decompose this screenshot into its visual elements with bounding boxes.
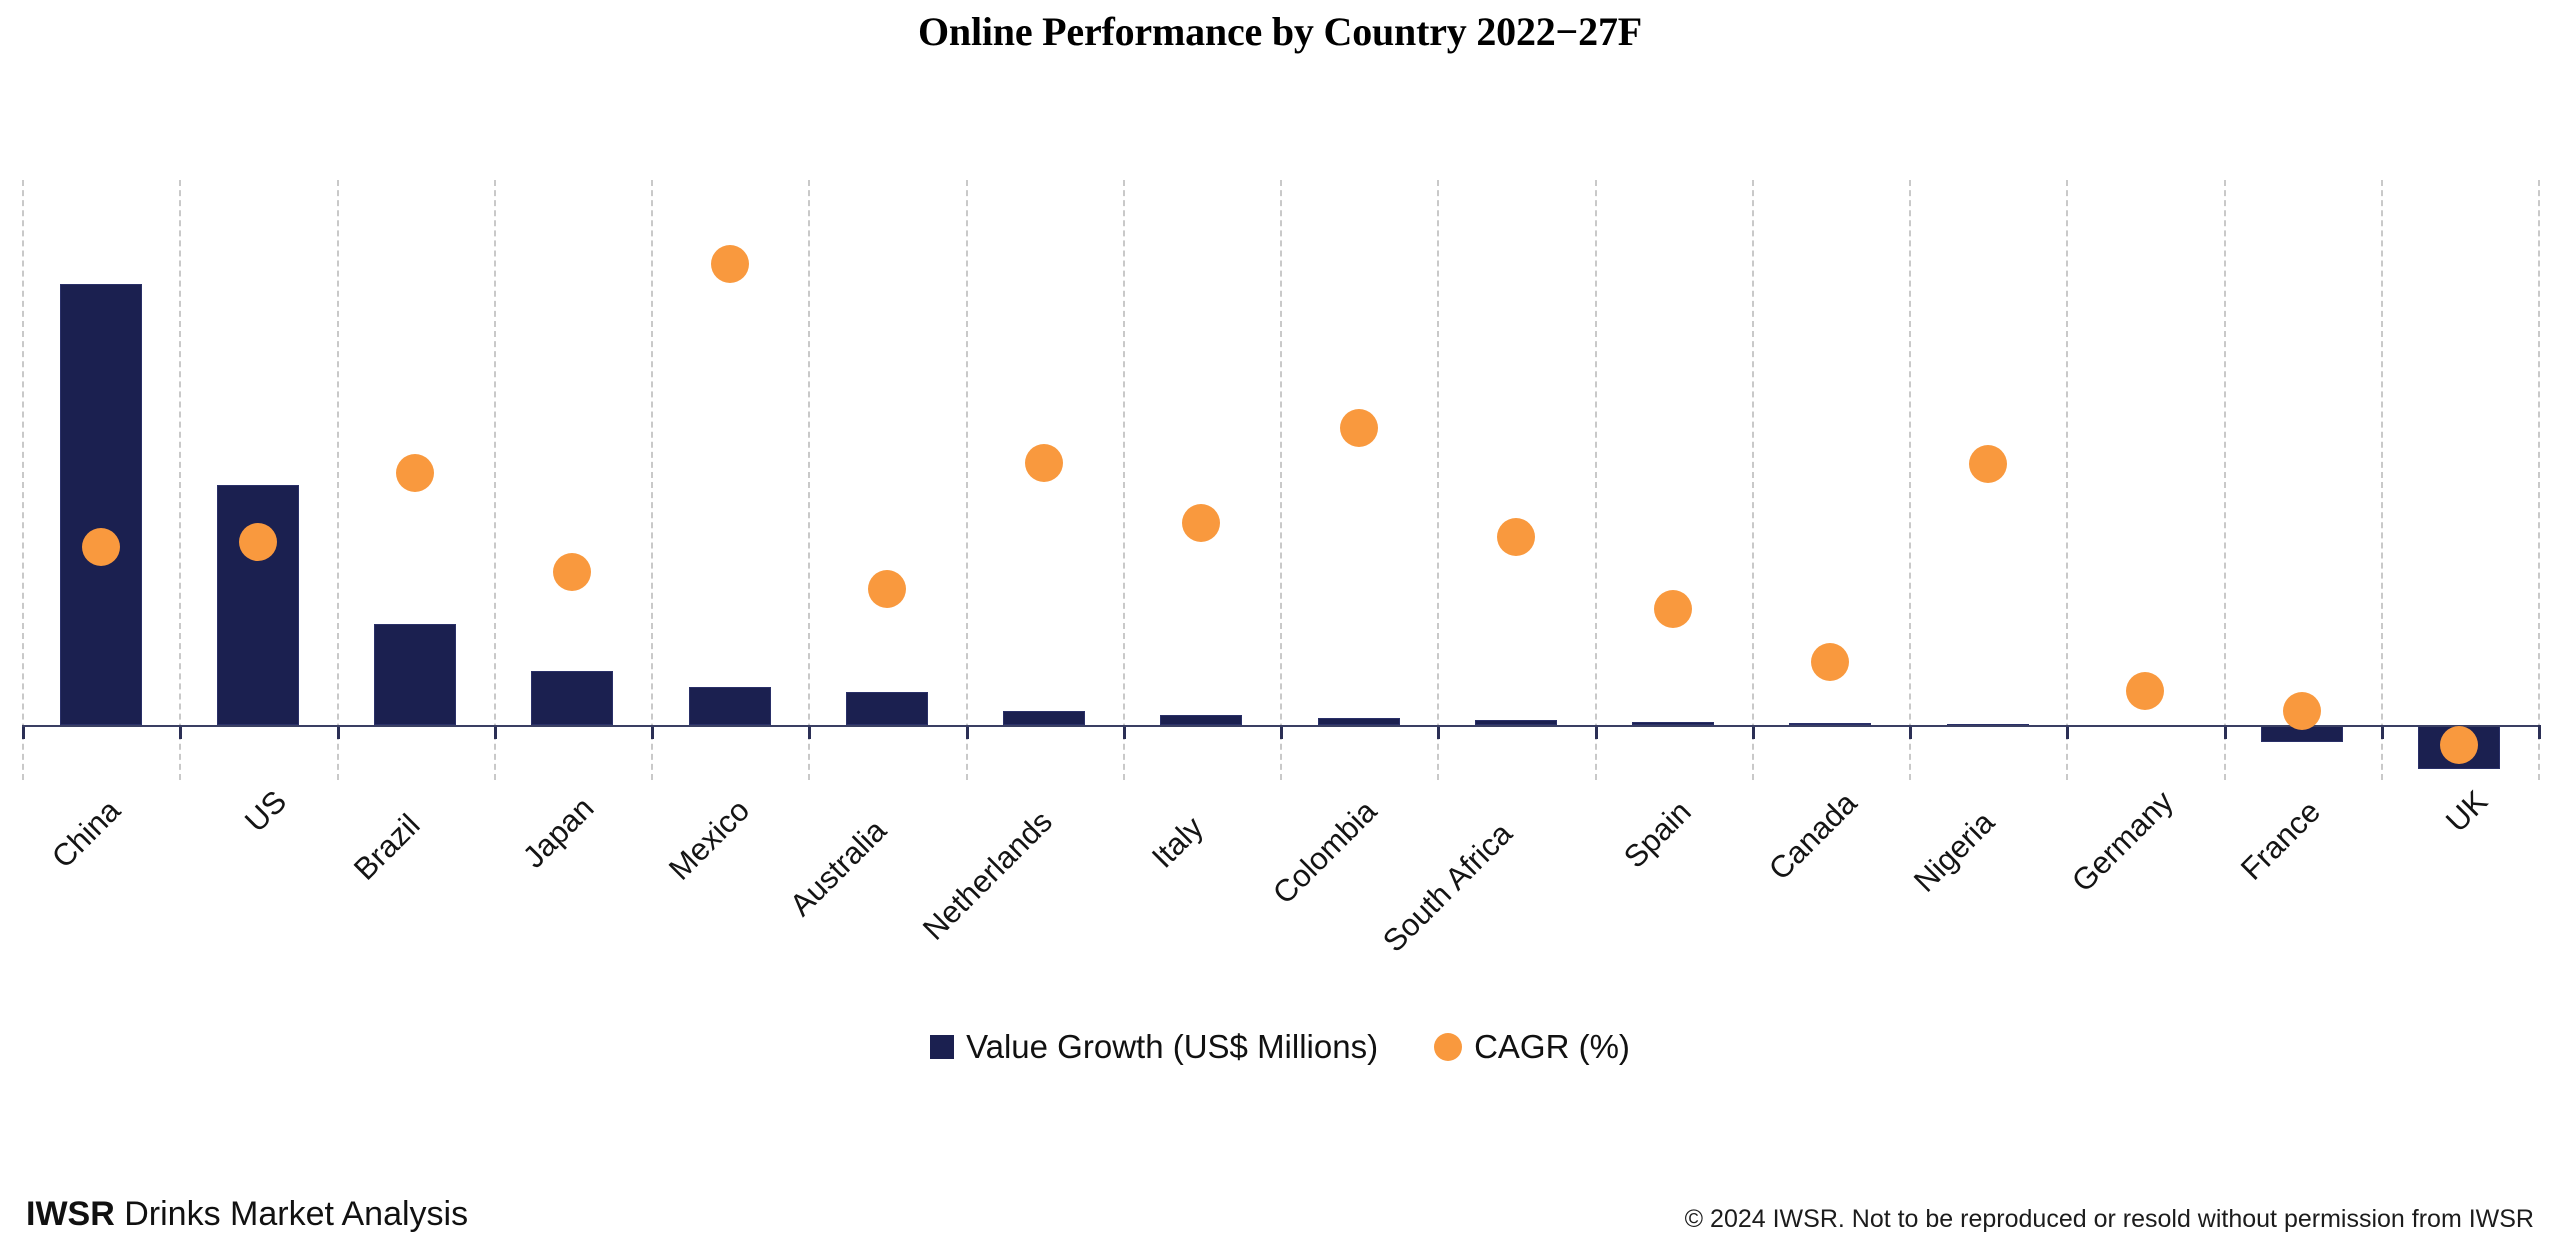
legend-item-cagr[interactable]: CAGR (%) [1434, 1028, 1630, 1066]
x-axis-label-mexico: Mexico [662, 793, 757, 888]
legend-circle-icon [1434, 1033, 1462, 1061]
cagr-marker-uk [2440, 726, 2478, 764]
legend-label: CAGR (%) [1474, 1028, 1630, 1066]
legend-square-icon [930, 1035, 954, 1059]
x-axis-label-uk: UK [2439, 784, 2495, 840]
page-footer: IWSR Drinks Market Analysis © 2024 IWSR.… [0, 1195, 2560, 1234]
footer-brand: IWSR Drinks Market Analysis [26, 1195, 468, 1234]
x-axis-label-us: US [238, 784, 294, 840]
x-axis-label-germany: Germany [2065, 784, 2181, 900]
x-axis-label-china: China [45, 793, 128, 876]
x-axis-label-south-africa: South Africa [1376, 816, 1520, 960]
scatter-series-layer [22, 180, 2538, 780]
cagr-marker-china [82, 528, 120, 566]
x-axis-label-canada: Canada [1762, 785, 1864, 887]
x-axis-labels: ChinaUSBrazilJapanMexicoAustraliaNetherl… [22, 790, 2538, 990]
page-title: Online Performance by Country 2022−27F [0, 8, 2560, 55]
x-axis-label-australia: Australia [783, 813, 894, 924]
cagr-marker-australia [868, 570, 906, 608]
cagr-marker-canada [1811, 643, 1849, 681]
axis-tick [2538, 725, 2541, 739]
cagr-marker-south-africa [1497, 518, 1535, 556]
chart-legend: Value Growth (US$ Millions)CAGR (%) [0, 1028, 2560, 1066]
footer-brand-name: IWSR [26, 1195, 115, 1233]
cagr-marker-italy [1182, 504, 1220, 542]
footer-brand-tagline: Drinks Market Analysis [115, 1195, 468, 1233]
x-axis-label-netherlands: Netherlands [916, 804, 1060, 948]
x-axis-label-nigeria: Nigeria [1907, 805, 2002, 900]
cagr-marker-brazil [396, 454, 434, 492]
gridline [2538, 180, 2540, 780]
cagr-marker-spain [1654, 590, 1692, 628]
x-axis-label-italy: Italy [1145, 810, 1211, 876]
legend-label: Value Growth (US$ Millions) [966, 1028, 1378, 1066]
cagr-marker-netherlands [1025, 444, 1063, 482]
footer-copyright: © 2024 IWSR. Not to be reproduced or res… [1685, 1205, 2534, 1234]
cagr-marker-germany [2126, 672, 2164, 710]
x-axis-label-spain: Spain [1617, 794, 1699, 876]
cagr-marker-us [239, 523, 277, 561]
cagr-marker-france [2283, 692, 2321, 730]
cagr-marker-colombia [1340, 409, 1378, 447]
chart-plot-area [22, 180, 2538, 780]
x-axis-label-france: France [2234, 794, 2328, 888]
legend-item-value-growth[interactable]: Value Growth (US$ Millions) [930, 1028, 1378, 1066]
x-axis-label-japan: Japan [516, 790, 601, 875]
cagr-marker-nigeria [1969, 445, 2007, 483]
x-axis-label-brazil: Brazil [347, 807, 427, 887]
cagr-marker-mexico [711, 245, 749, 283]
x-axis-label-colombia: Colombia [1266, 794, 1384, 912]
cagr-marker-japan [553, 553, 591, 591]
